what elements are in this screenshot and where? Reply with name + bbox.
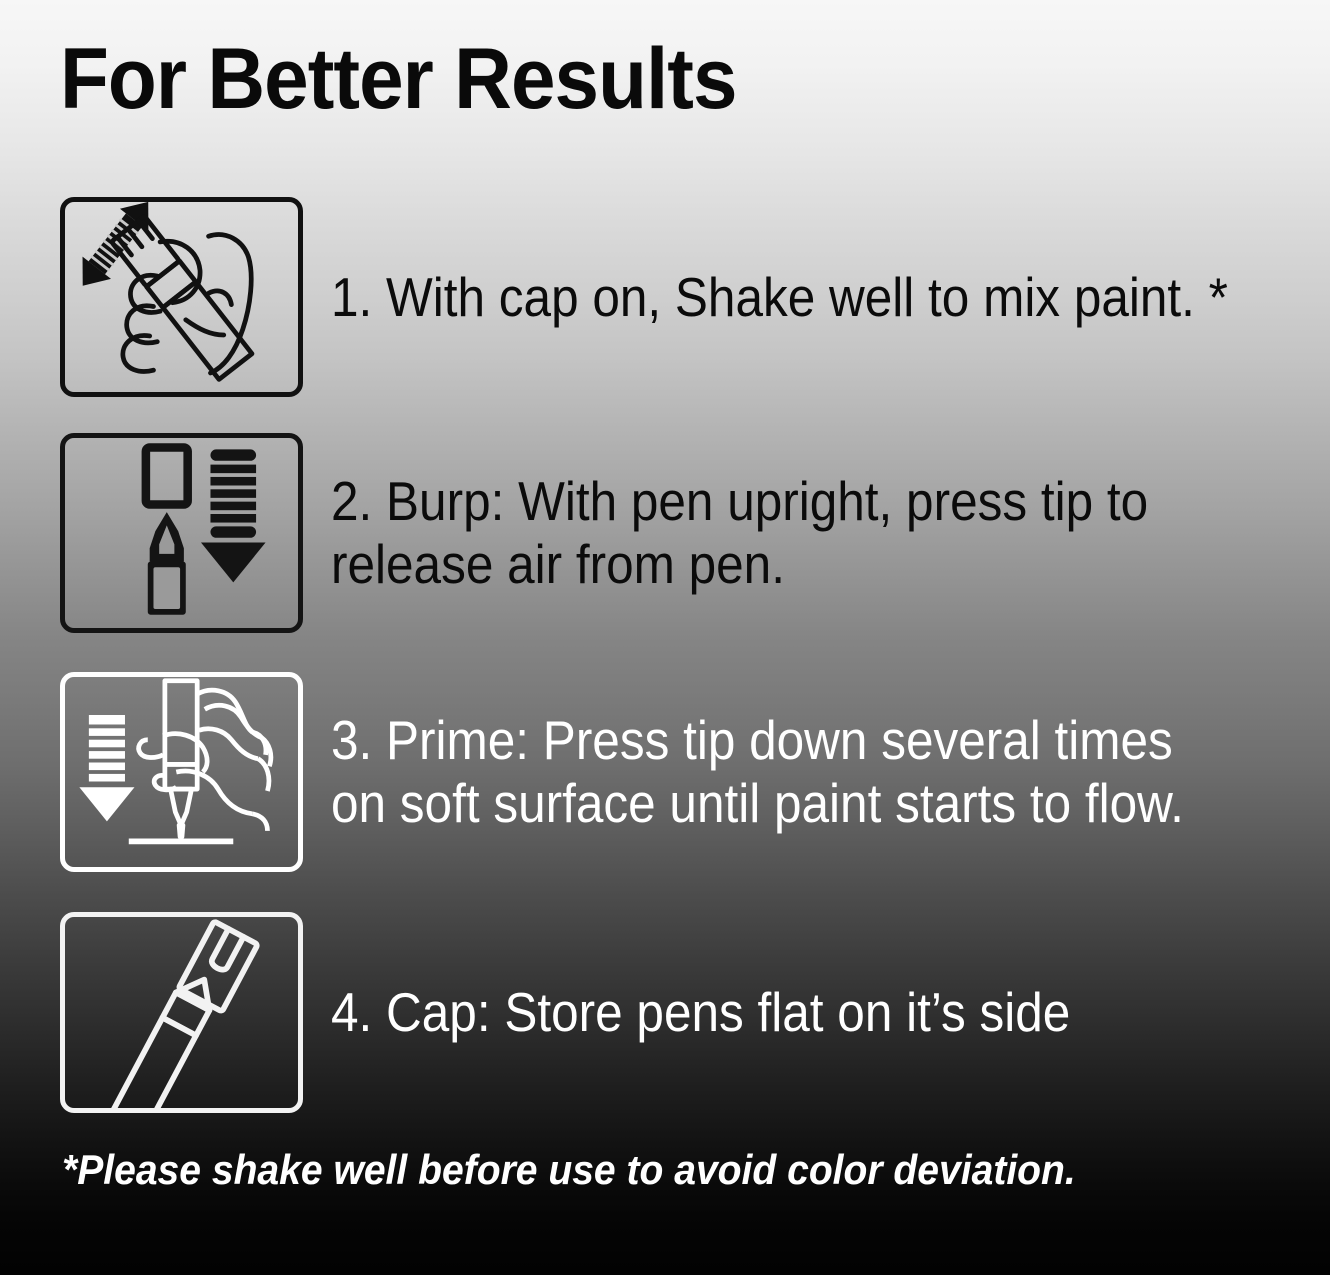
step-text-4: 4. Cap: Store pens flat on it’s side (331, 981, 1230, 1044)
step-row-2: 2. Burp: With pen upright, press tip to … (0, 433, 1330, 633)
step-row-3: 3. Prime: Press tip down several times o… (0, 672, 1330, 872)
capped-pen-lying-icon (60, 912, 303, 1113)
step-row-1: 1. With cap on, Shake well to mix paint.… (0, 197, 1330, 397)
step-text-1: 1. With cap on, Shake well to mix paint.… (331, 266, 1230, 329)
hand-shaking-pen-icon (60, 197, 303, 397)
footnote-text: *Please shake well before use to avoid c… (62, 1146, 1076, 1194)
pen-upright-burp-icon (60, 433, 303, 633)
step-text-2: 2. Burp: With pen upright, press tip to … (331, 470, 1230, 595)
step-row-4: 4. Cap: Store pens flat on it’s side (0, 912, 1330, 1113)
hand-pressing-pen-prime-icon (60, 672, 303, 872)
instructions-panel: For Better Results (0, 0, 1330, 1275)
page-title: For Better Results (60, 36, 737, 122)
step-text-3: 3. Prime: Press tip down several times o… (331, 709, 1230, 834)
